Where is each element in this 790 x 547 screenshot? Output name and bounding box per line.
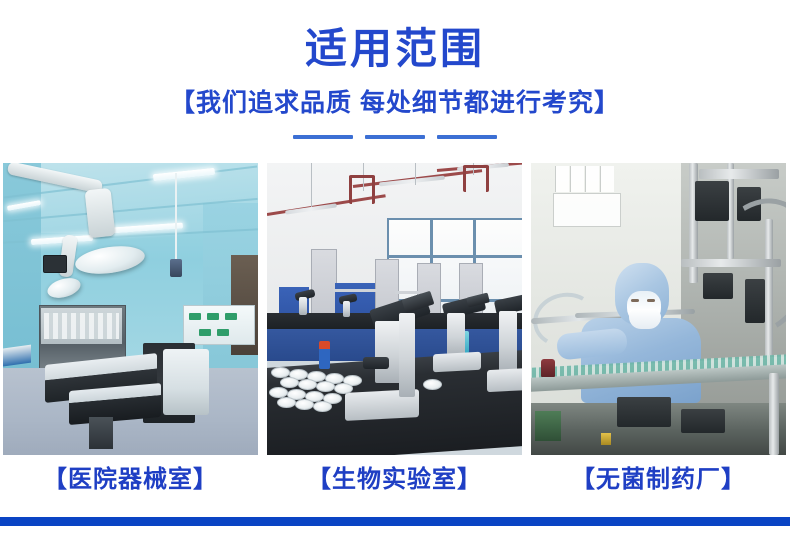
divider-dash: [365, 135, 425, 139]
bottom-accent-bar: [0, 517, 790, 526]
panel-biology-laboratory[interactable]: [267, 163, 522, 455]
caption-biology-laboratory: 【生物实验室】: [267, 463, 522, 503]
panel-hospital-equipment-room[interactable]: [3, 163, 258, 455]
applicable-scope-banner: 适用范围 【我们追求品质 每处细节都进行考究】: [0, 0, 790, 547]
page-title: 适用范围: [0, 24, 790, 74]
banner-header: 适用范围 【我们追求品质 每处细节都进行考究】: [0, 0, 790, 155]
panel-sterile-pharmaceutical-factory[interactable]: [531, 163, 786, 455]
divider: [0, 131, 790, 143]
photo-pharmaceutical-cleanroom: [531, 163, 786, 455]
panel-row: [3, 163, 787, 455]
page-subtitle: 【我们追求品质 每处细节都进行考究】: [0, 87, 790, 119]
caption-row: 【医院器械室】 【生物实验室】 【无菌制药厂】: [3, 463, 787, 503]
photo-operating-room: [3, 163, 258, 455]
photo-biology-laboratory: [267, 163, 522, 455]
divider-dash: [437, 135, 497, 139]
divider-dash: [293, 135, 353, 139]
caption-sterile-pharmaceutical-factory: 【无菌制药厂】: [531, 463, 786, 503]
caption-hospital-equipment-room: 【医院器械室】: [3, 463, 258, 503]
